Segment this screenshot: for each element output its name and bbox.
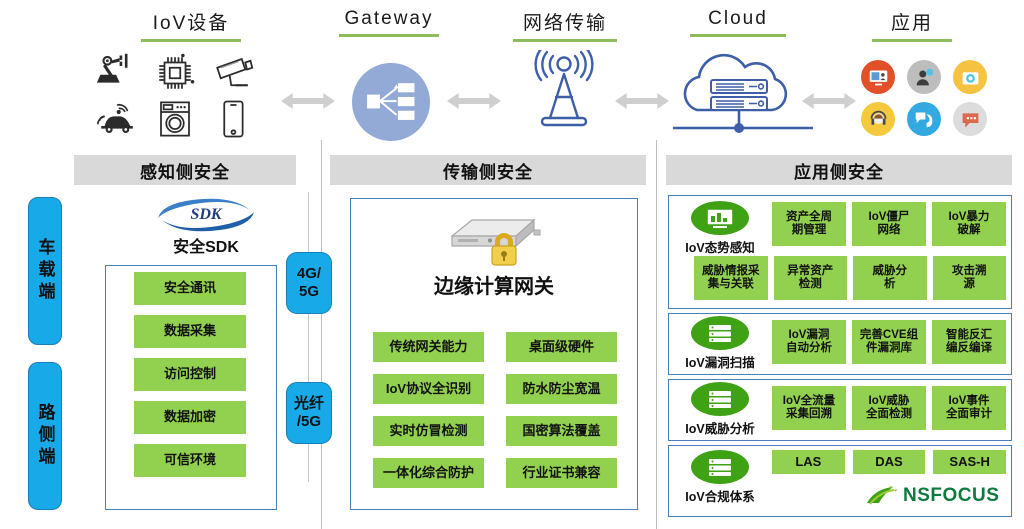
server-stack-icon — [691, 316, 749, 350]
app-group-compliance-system-name: IoV合规体系 — [672, 486, 768, 505]
app-chip-3-1[interactable]: DAS — [853, 450, 926, 474]
transport-chip-5[interactable]: 国密算法覆盖 — [506, 416, 617, 446]
app-group-situational-awareness-badge: IoV态势感知 — [672, 201, 768, 256]
camera-app-icon — [953, 60, 987, 94]
chip-icon — [152, 52, 198, 94]
transport-chip-grid: 传统网关能力 桌面级硬件 IoV协议全识别 防水防尘宽温 实时仿冒检测 国密算法… — [373, 332, 617, 488]
connector-4g-5g: 4G/ 5G — [286, 252, 332, 314]
app-group-0-row-0: 资产全周 期管理 IoV僵尸 网络 IoV暴力 破解 — [772, 202, 1006, 246]
server-stack-icon — [691, 382, 749, 416]
edge-gateway-caption: 边缘计算网关 — [394, 270, 594, 299]
app-group-3-row-0: LAS DAS SAS-H — [772, 450, 1006, 474]
side-label-roadside: 路侧端 — [28, 362, 62, 510]
section-header-sense: 感知侧安全 — [74, 155, 296, 185]
transport-chip-2[interactable]: IoV协议全识别 — [373, 374, 484, 404]
connector-fiber-5g: 光纤 /5G — [286, 382, 332, 444]
app-group-vulnerability-scan-badge: IoV漏洞扫描 — [672, 316, 768, 371]
top-header-network-transmission: 网络传输 — [513, 8, 617, 42]
app-chip-0-6[interactable]: 攻击溯 源 — [933, 256, 1007, 300]
server-stack-icon — [691, 450, 749, 484]
app-chip-0-2[interactable]: IoV暴力 破解 — [932, 202, 1006, 246]
flow-arrow-2 — [447, 92, 501, 110]
security-sdk-caption: 安全SDK — [141, 233, 271, 257]
app-group-threat-analysis-badge: IoV威胁分析 — [672, 382, 768, 437]
monitor-app-icon — [861, 60, 895, 94]
transport-chip-3[interactable]: 防水防尘宽温 — [506, 374, 617, 404]
app-chip-0-1[interactable]: IoV僵尸 网络 — [852, 202, 926, 246]
flow-arrow-4 — [802, 92, 856, 110]
transport-chip-1[interactable]: 桌面级硬件 — [506, 332, 617, 362]
smartphone-icon — [210, 98, 256, 140]
security-camera-icon — [210, 52, 256, 94]
cloud-server-icon — [669, 50, 817, 136]
app-group-0-row-1: 威胁情报采 集与关联 异常资产 检测 威胁分 析 攻击溯 源 — [694, 256, 1006, 300]
sense-chip-4[interactable]: 可信环境 — [134, 444, 246, 477]
edge-gateway-icon — [438, 206, 550, 268]
app-group-vulnerability-scan-name: IoV漏洞扫描 — [672, 352, 768, 371]
top-header-gateway: Gateway — [339, 8, 439, 37]
side-label-roadside-text: 路侧端 — [33, 403, 58, 469]
connected-car-icon — [94, 98, 140, 140]
top-header-applications: 应用 — [872, 8, 952, 42]
nsfocus-brand-text: NSFOCUS — [903, 485, 999, 507]
app-group-1-row-0: IoV漏洞 自动分析 完善CVE组 件漏洞库 智能反汇 编反编译 — [772, 320, 1006, 364]
connector-4g-5g-line1: 4G/ — [297, 265, 321, 283]
message-bubble-icon — [953, 102, 987, 136]
sense-chip-1[interactable]: 数据采集 — [134, 315, 246, 348]
app-chip-0-3[interactable]: 威胁情报采 集与关联 — [694, 256, 768, 300]
top-header-cloud: Cloud — [690, 8, 786, 37]
nsfocus-brand-logo: NSFOCUS — [865, 485, 999, 507]
washing-machine-icon — [152, 98, 198, 140]
gateway-icon — [352, 63, 430, 141]
app-chip-3-0[interactable]: LAS — [772, 450, 845, 474]
svg-text:SDK: SDK — [190, 206, 222, 223]
app-chip-0-5[interactable]: 威胁分 析 — [853, 256, 927, 300]
connector-4g-5g-line2: 5G — [297, 283, 321, 301]
app-chip-2-2[interactable]: IoV事件 全面审计 — [932, 386, 1006, 430]
app-group-compliance-system-badge: IoV合规体系 — [672, 450, 768, 505]
support-agent-icon — [907, 60, 941, 94]
app-group-2-row-0: IoV全流量 采集回溯 IoV威胁 全面检测 IoV事件 全面审计 — [772, 386, 1006, 430]
application-icon-group — [855, 56, 993, 140]
app-chip-1-0[interactable]: IoV漏洞 自动分析 — [772, 320, 846, 364]
app-chip-1-2[interactable]: 智能反汇 编反编译 — [932, 320, 1006, 364]
app-chip-0-0[interactable]: 资产全周 期管理 — [772, 202, 846, 246]
app-group-threat-analysis-name: IoV威胁分析 — [672, 418, 768, 437]
sdk-swoosh-icon: SDK — [154, 198, 258, 232]
iot-device-icon-group — [88, 50, 262, 142]
dashboard-chart-icon — [691, 201, 749, 235]
top-header-iov-devices: IoV设备 — [141, 8, 241, 42]
flow-arrow-1 — [281, 92, 335, 110]
section-header-transport: 传输侧安全 — [330, 155, 646, 185]
transport-chip-7[interactable]: 行业证书兼容 — [506, 458, 617, 488]
iov-security-architecture-diagram: IoV设备 Gateway 网络传输 Cloud 应用 — [0, 0, 1024, 529]
transport-chip-4[interactable]: 实时仿冒检测 — [373, 416, 484, 446]
flow-arrow-3 — [615, 92, 669, 110]
headset-agent-icon — [861, 102, 895, 136]
transport-chip-0[interactable]: 传统网关能力 — [373, 332, 484, 362]
app-chip-3-2[interactable]: SAS-H — [933, 450, 1006, 474]
app-group-situational-awareness-name: IoV态势感知 — [672, 237, 768, 256]
column-divider-2 — [656, 140, 657, 529]
app-chip-2-0[interactable]: IoV全流量 采集回溯 — [772, 386, 846, 430]
app-chip-2-1[interactable]: IoV威胁 全面检测 — [852, 386, 926, 430]
app-chip-1-1[interactable]: 完善CVE组 件漏洞库 — [852, 320, 926, 364]
side-label-vehicle-side: 车载端 — [28, 197, 62, 345]
chat-call-icon — [907, 102, 941, 136]
edge-gateway-block: 边缘计算网关 — [394, 206, 594, 299]
sense-chip-2[interactable]: 访问控制 — [134, 358, 246, 391]
sense-chip-0[interactable]: 安全通讯 — [134, 272, 246, 305]
radio-tower-icon — [518, 50, 610, 132]
app-chip-0-4[interactable]: 异常资产 检测 — [774, 256, 848, 300]
column-divider-1 — [321, 140, 322, 529]
security-sdk-logo-block: SDK 安全SDK — [141, 198, 271, 257]
nsfocus-mark-icon — [865, 485, 899, 507]
sense-chip-3[interactable]: 数据加密 — [134, 401, 246, 434]
side-label-vehicle-side-text: 车载端 — [33, 238, 58, 304]
section-header-application: 应用侧安全 — [666, 155, 1012, 185]
transport-chip-6[interactable]: 一体化综合防护 — [373, 458, 484, 488]
robot-arm-icon — [94, 52, 140, 94]
connector-fiber-5g-line1: 光纤 — [294, 395, 324, 413]
connector-fiber-5g-line2: /5G — [294, 413, 324, 431]
sense-chip-stack: 安全通讯 数据采集 访问控制 数据加密 可信环境 — [134, 272, 246, 477]
